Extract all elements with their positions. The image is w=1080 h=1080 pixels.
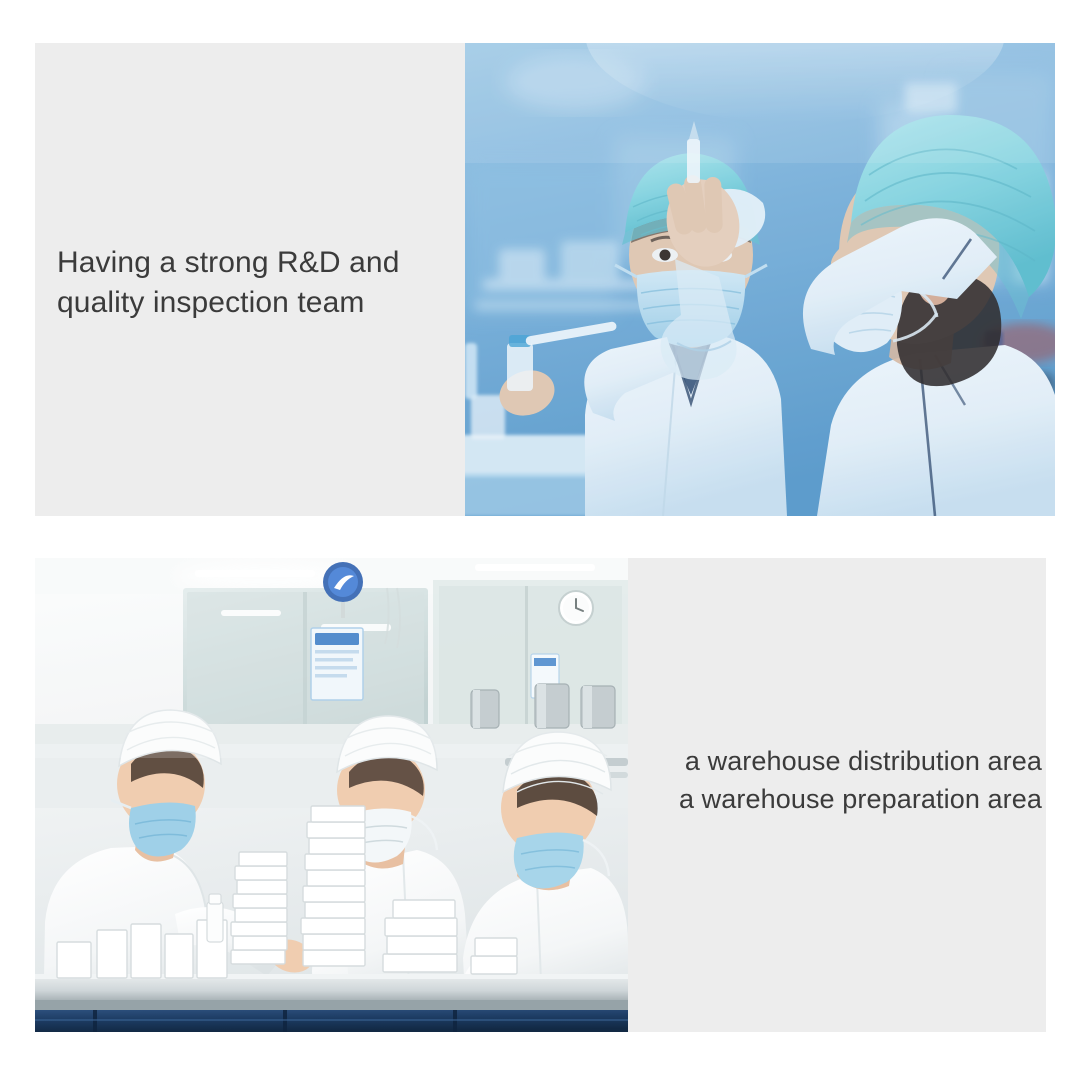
warehouse-packing-illustration xyxy=(35,558,628,1032)
section-warehouse: a warehouse distribution area a warehous… xyxy=(35,558,1046,1032)
warehouse-caption-panel: a warehouse distribution area a warehous… xyxy=(628,558,1046,1032)
warehouse-caption-text: a warehouse distribution area a warehous… xyxy=(632,743,1042,819)
section-rnd-quality: Having a strong R&D and quality inspecti… xyxy=(35,43,1055,516)
rnd-caption-panel: Having a strong R&D and quality inspecti… xyxy=(35,43,465,516)
banner-page: Having a strong R&D and quality inspecti… xyxy=(0,0,1080,1080)
laboratory-inspection-photo xyxy=(465,43,1055,516)
warehouse-packing-photo xyxy=(35,558,628,1032)
laboratory-inspection-illustration xyxy=(465,43,1055,516)
rnd-caption-text: Having a strong R&D and quality inspecti… xyxy=(57,243,457,322)
